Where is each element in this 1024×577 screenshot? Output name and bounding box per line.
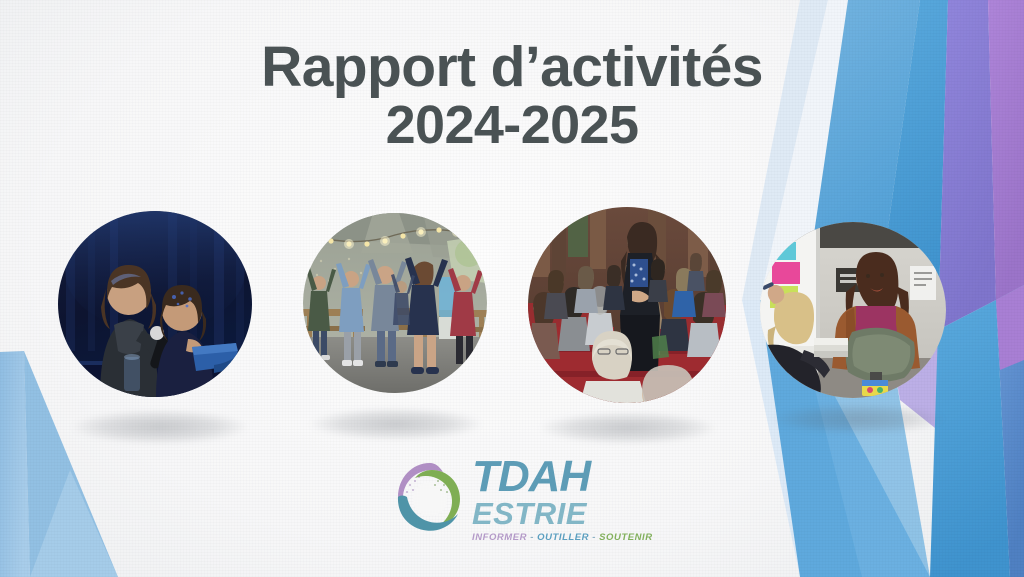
tagline-word-informer: INFORMER xyxy=(472,532,527,543)
logo-name-secondary: ESTRIE xyxy=(472,498,653,529)
title-line-2: 2024-2025 xyxy=(0,97,1024,153)
photo-shadow-1 xyxy=(72,410,248,444)
ribbon-rb-mid xyxy=(930,300,1010,577)
logo-tdah-estrie: TDAH ESTRIE INFORMER - OUTILLER - SOUTEN… xyxy=(392,455,622,555)
photo-shadow-3 xyxy=(540,412,716,444)
tdah-estrie-circular-mark xyxy=(392,459,468,535)
ribbon-rb-purple-tail xyxy=(996,285,1024,370)
page-title: Rapport d’activités 2024-2025 xyxy=(0,38,1024,153)
logo-wordmark: TDAH ESTRIE INFORMER - OUTILLER - SOUTEN… xyxy=(472,455,653,543)
photo-group-activity xyxy=(303,213,487,393)
photo-workshop xyxy=(760,222,946,398)
tagline-word-soutenir: SOUTENIR xyxy=(599,532,653,543)
tagline-word-outiller: OUTILLER xyxy=(537,532,589,543)
title-line-1: Rapport d’activités xyxy=(0,38,1024,97)
tagline-separator-1: - xyxy=(527,532,537,543)
slide-canvas: Rapport d’activités 2024-2025 xyxy=(0,0,1024,577)
photo-audience xyxy=(528,207,726,403)
tagline-separator-2: - xyxy=(589,532,599,543)
logo-tagline: INFORMER - OUTILLER - SOUTENIR xyxy=(472,532,653,543)
book-stack xyxy=(814,338,848,357)
logo-name-primary: TDAH xyxy=(472,457,653,497)
photo-stage-presentation xyxy=(58,211,252,397)
photo-shadow-2 xyxy=(310,408,482,440)
logo-inner-disc xyxy=(413,482,447,516)
ribbon-left-group xyxy=(0,351,118,577)
photo-shadow-4 xyxy=(772,404,944,434)
